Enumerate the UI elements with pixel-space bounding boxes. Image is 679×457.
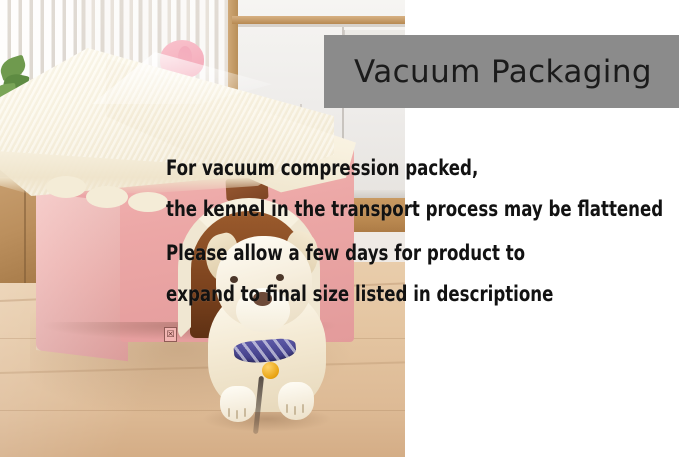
banner-title: Vacuum Packaging: [354, 54, 652, 90]
dog-toe-4: [286, 404, 288, 413]
overlay-text-line-3: Please allow a few days for product to: [166, 243, 525, 264]
product-infographic: ☒ Vacuum Packag: [0, 0, 679, 457]
dog-toe-5: [294, 406, 296, 415]
cabinet-wood-rail: [232, 16, 405, 24]
vacuum-packaging-banner: Vacuum Packaging: [324, 35, 679, 108]
dog-toe-2: [236, 410, 238, 419]
dog-paw-left: [220, 386, 256, 422]
care-label-tag: ☒: [164, 327, 177, 342]
dog-toe-1: [228, 408, 230, 417]
overlay-text-line-4: expand to final size listed in descripti…: [166, 284, 553, 305]
roof-scallop-3: [128, 192, 168, 212]
roof-scallop-1: [46, 176, 86, 198]
cabinet-shelf-seam: [238, 24, 405, 27]
dog-eye-right: [276, 274, 284, 281]
dog-collar-bell: [262, 362, 279, 379]
dog-paw-right: [278, 382, 314, 420]
overlay-text-line-1: For vacuum compression packed,: [166, 158, 478, 179]
roof-scallop-2: [86, 186, 128, 208]
overlay-text-line-2: the kennel in the transport process may …: [166, 199, 663, 220]
dog-toe-6: [302, 404, 304, 413]
dog-toe-3: [244, 408, 246, 417]
